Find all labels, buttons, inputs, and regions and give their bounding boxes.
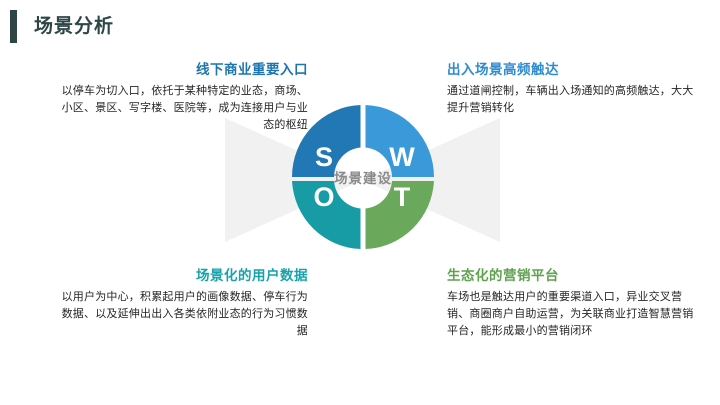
callout-top-left-body: 以停车为切入口，依托于某种特定的业态，商场、小区、景区、写字楼、医院等，成为连接…: [60, 83, 308, 134]
page-title-block: 场景分析: [10, 10, 114, 43]
swot-letter-o: O: [313, 182, 334, 212]
swot-letter-w: W: [389, 142, 415, 172]
callout-top-right-body: 通过道闸控制，车辆出入场通知的高频触达，大大提升营销转化: [447, 83, 697, 117]
callout-top-right: 出入场景高频触达 通过道闸控制，车辆出入场通知的高频触达，大大提升营销转化: [447, 62, 697, 117]
callout-bottom-right-body: 车场也是触达用户的重要渠道入口，异业交叉营销、商圈商户自助运营，为关联商业打造智…: [447, 289, 697, 340]
callout-bottom-left-body: 以用户为中心，积累起用户的画像数据、停车行为数据、以及延伸出出入各类依附业态的行…: [60, 289, 308, 340]
swot-donut-chart: S W O T: [290, 103, 436, 251]
callout-top-right-heading: 出入场景高频触达: [447, 62, 697, 79]
swot-segment-o[interactable]: O: [292, 181, 361, 249]
swot-letter-s: S: [315, 142, 333, 172]
slide-canvas: 场景分析 S W O T 场景建设 线下商业重要入口 以停车为切入口，依托于: [0, 0, 720, 405]
title-accent-bar: [10, 10, 17, 43]
swot-segment-w[interactable]: W: [366, 105, 435, 177]
callout-top-left: 线下商业重要入口 以停车为切入口，依托于某种特定的业态，商场、小区、景区、写字楼…: [60, 62, 308, 134]
callout-bottom-left: 场景化的用户数据 以用户为中心，积累起用户的画像数据、停车行为数据、以及延伸出出…: [60, 268, 308, 340]
callout-top-left-heading: 线下商业重要入口: [60, 62, 308, 79]
callout-bottom-right: 生态化的营销平台 车场也是触达用户的重要渠道入口，异业交叉营销、商圈商户自助运营…: [447, 268, 697, 340]
swot-segment-t[interactable]: T: [366, 181, 435, 249]
page-title: 场景分析: [34, 17, 114, 36]
swot-letter-t: T: [394, 182, 411, 212]
callout-bottom-left-heading: 场景化的用户数据: [60, 268, 308, 285]
callout-bottom-right-heading: 生态化的营销平台: [447, 268, 697, 285]
